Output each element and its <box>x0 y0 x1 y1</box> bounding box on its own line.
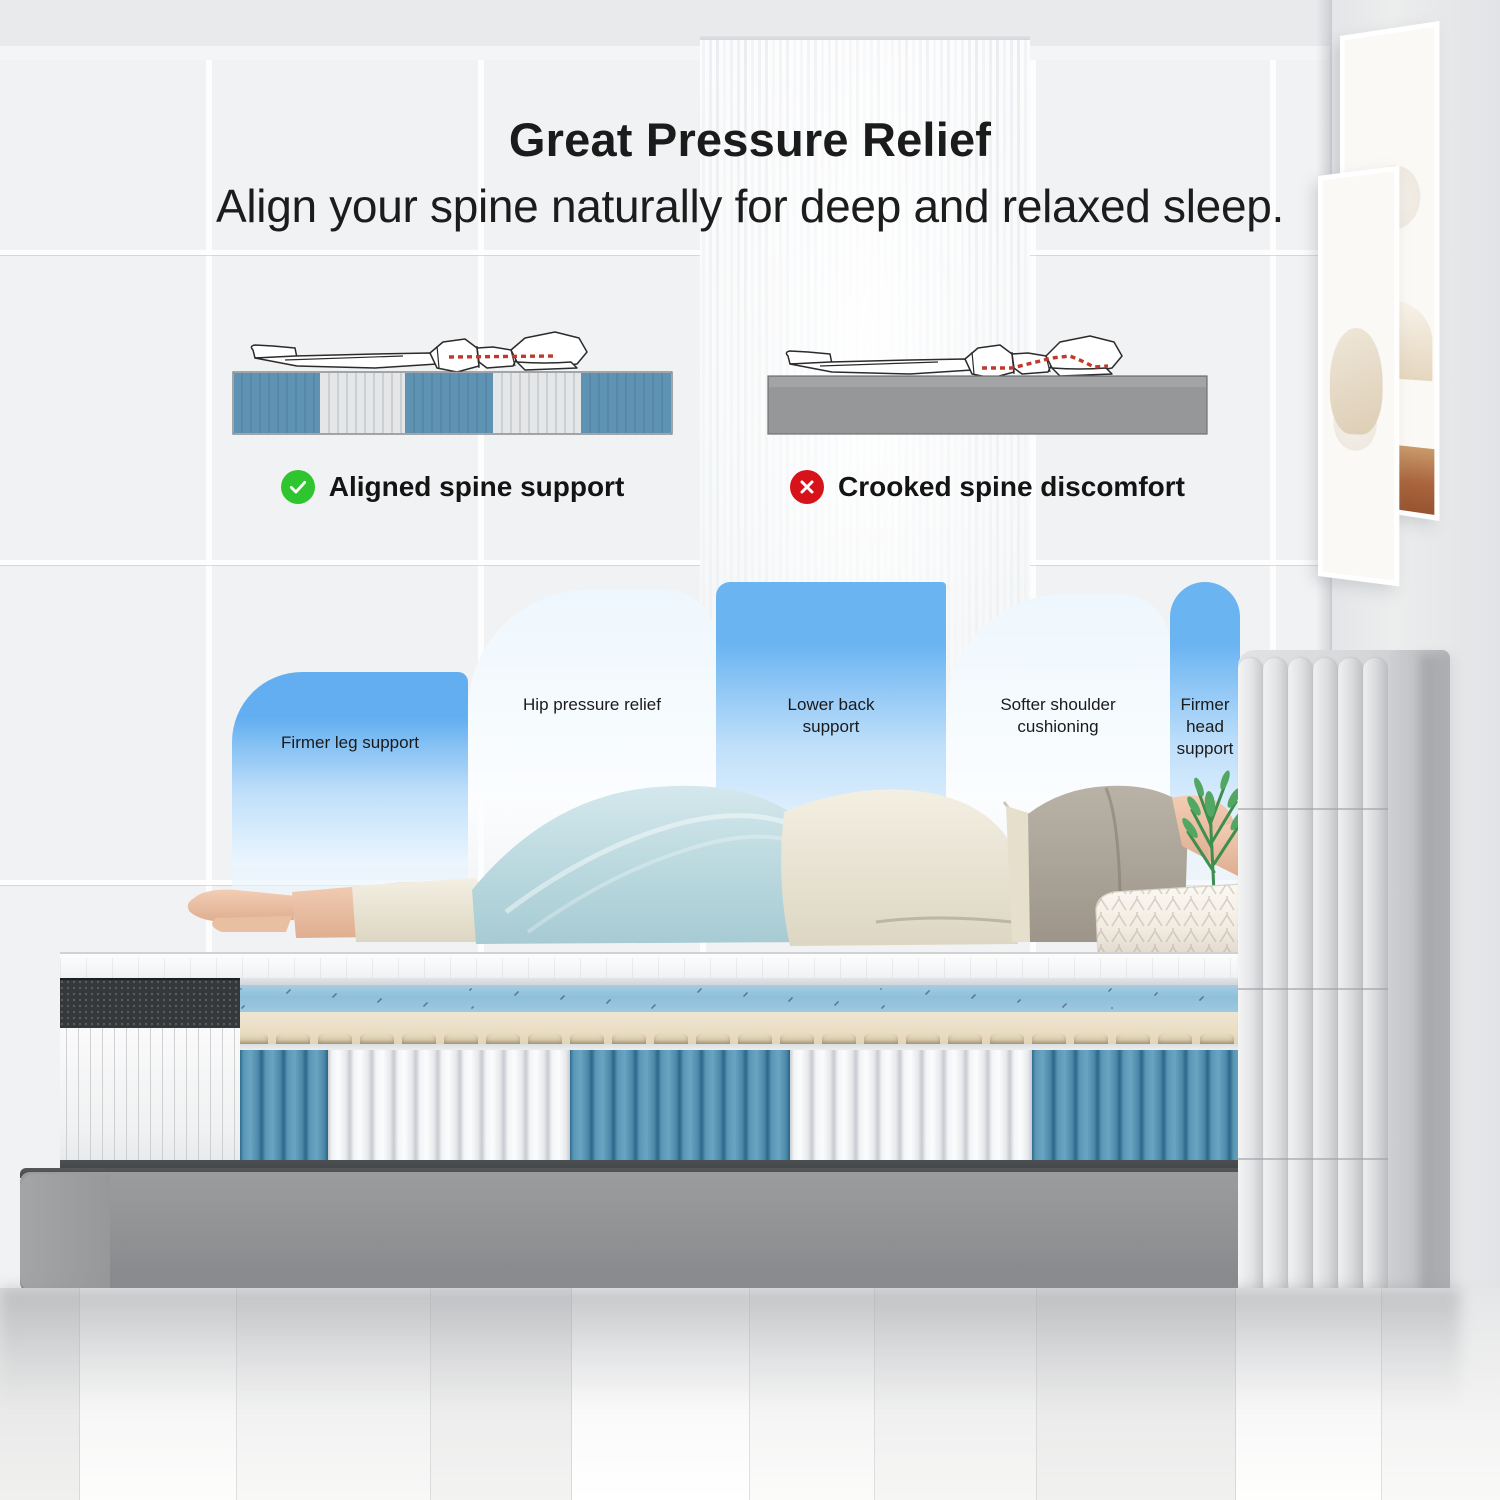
layer-gel-memory-foam <box>240 985 1295 1012</box>
pocket-coil <box>724 1050 746 1178</box>
pocket-coil <box>878 1050 900 1178</box>
pocket-coil <box>504 1050 526 1178</box>
aligned-caption-row: Aligned spine support <box>225 470 680 504</box>
pocket-coil <box>526 1050 548 1178</box>
pocket-coil <box>592 1050 614 1178</box>
comparison-crooked: Crooked spine discomfort <box>760 306 1215 504</box>
pocket-coil <box>1142 1050 1164 1178</box>
pocket-coil <box>1164 1050 1186 1178</box>
bed-base <box>20 1172 1420 1294</box>
bed-base-left-corner <box>20 1174 110 1292</box>
aligned-spine-diagram <box>225 306 680 448</box>
pocket-coil <box>636 1050 658 1178</box>
pocket-coil <box>702 1050 724 1178</box>
pocket-coil <box>328 1050 350 1178</box>
zone-label-4: Softer shouldercushioning <box>946 694 1170 738</box>
pocket-coil <box>1208 1050 1230 1178</box>
page-title: Great Pressure Relief <box>0 112 1500 167</box>
pocket-coil <box>482 1050 504 1178</box>
mattress-left-endcap <box>60 978 240 1178</box>
flat-mattress-graphic <box>768 376 1207 434</box>
mesh-border-band <box>60 978 240 1030</box>
pocket-coil-row <box>240 1050 1295 1178</box>
pocket-coil <box>394 1050 416 1178</box>
layer-thin-fabric <box>240 978 1295 985</box>
x-circle-icon <box>790 470 824 504</box>
headline-block: Great Pressure Relief Align your spine n… <box>0 112 1500 233</box>
pocket-coil <box>768 1050 790 1178</box>
mattress-layer-cutaway <box>240 978 1295 1178</box>
zone-label-1: Firmer leg support <box>232 732 468 754</box>
pocket-coil <box>1098 1050 1120 1178</box>
pocket-coil <box>1186 1050 1208 1178</box>
pocket-coil <box>1120 1050 1142 1178</box>
page-subtitle: Align your spine naturally for deep and … <box>0 179 1500 233</box>
check-circle-icon <box>281 470 315 504</box>
pocket-coil <box>1054 1050 1076 1178</box>
pocket-coil <box>262 1050 284 1178</box>
pocket-coil <box>570 1050 592 1178</box>
headboard-tufting <box>1238 658 1388 1295</box>
zone-label-3: Lower backsupport <box>716 694 946 738</box>
pocket-coil <box>372 1050 394 1178</box>
pocket-coil <box>746 1050 768 1178</box>
pocket-coil <box>416 1050 438 1178</box>
pocket-coil <box>944 1050 966 1178</box>
headboard-shadow <box>1420 655 1460 1295</box>
mattress-cutaway <box>60 952 1360 1180</box>
tufted-headboard <box>1238 650 1450 1295</box>
pocket-coil <box>240 1050 262 1178</box>
infographic-stage: Great Pressure Relief Align your spine n… <box>0 0 1500 1500</box>
pocket-coil <box>548 1050 570 1178</box>
bed-floor-shadow <box>0 1288 1460 1408</box>
pocket-coil <box>460 1050 482 1178</box>
pocket-coil <box>306 1050 328 1178</box>
pocket-coil <box>834 1050 856 1178</box>
crooked-spine-diagram <box>760 306 1215 448</box>
pocket-coil <box>658 1050 680 1178</box>
comparison-aligned: Aligned spine support <box>225 306 680 504</box>
pocket-coil <box>614 1050 636 1178</box>
pocket-coil <box>1010 1050 1032 1178</box>
pocket-coil <box>856 1050 878 1178</box>
pocket-coil <box>966 1050 988 1178</box>
pocket-coil <box>988 1050 1010 1178</box>
zoned-mattress-graphic <box>233 372 672 434</box>
pocket-coil <box>350 1050 372 1178</box>
zone-label-5: Firmer head support <box>1170 694 1240 759</box>
pocket-coil <box>922 1050 944 1178</box>
pocket-coil <box>284 1050 306 1178</box>
aligned-caption-label: Aligned spine support <box>329 471 625 503</box>
pocket-coil <box>1032 1050 1054 1178</box>
pocket-coil <box>812 1050 834 1178</box>
zone-label-2: Hip pressure relief <box>468 694 716 716</box>
crooked-caption-label: Crooked spine discomfort <box>838 471 1185 503</box>
pocket-coil <box>790 1050 812 1178</box>
pocket-coil <box>680 1050 702 1178</box>
crooked-caption-row: Crooked spine discomfort <box>760 470 1215 504</box>
pocket-coil <box>438 1050 460 1178</box>
pocket-coil <box>900 1050 922 1178</box>
pocket-coil <box>1076 1050 1098 1178</box>
